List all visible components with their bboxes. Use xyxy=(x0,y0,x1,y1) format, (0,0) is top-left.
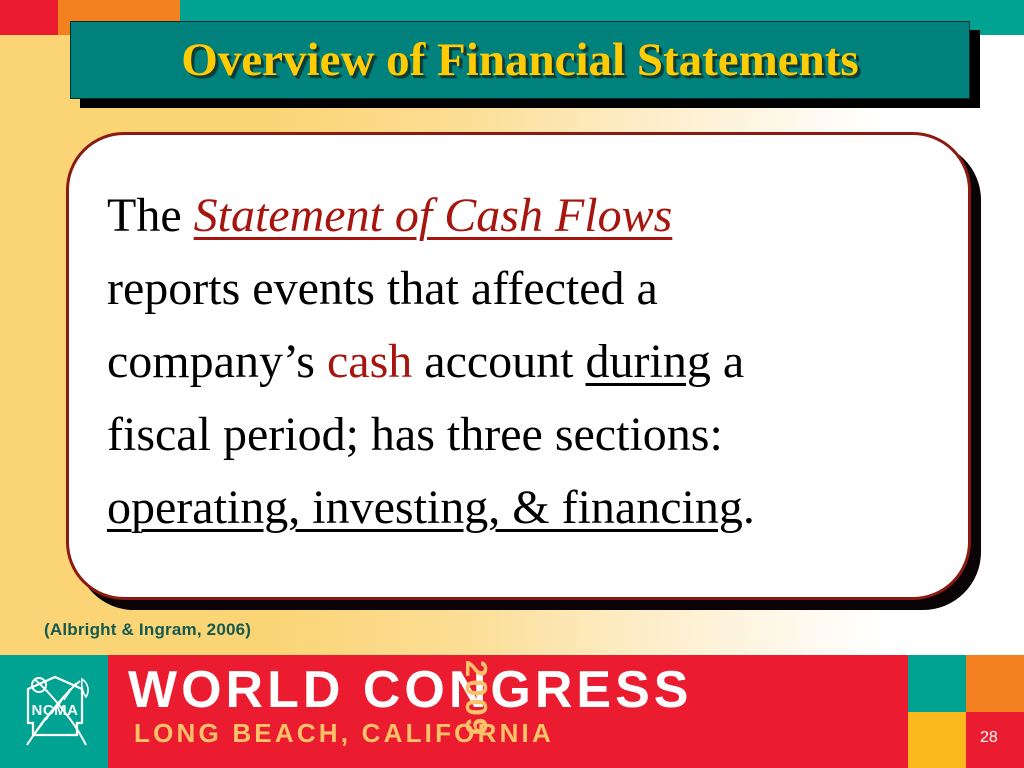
body-line3-suffix: a xyxy=(711,335,744,388)
citation-text: (Albright & Ingram, 2006) xyxy=(44,620,251,640)
body-emphasis-statement-of-cash-flows: Statement of Cash Flows xyxy=(194,189,673,242)
body-emphasis-during: during xyxy=(586,335,711,388)
body-line2: reports events that affected a xyxy=(107,262,658,315)
corner-square-orange xyxy=(966,655,1024,712)
corner-square-yellow xyxy=(908,712,966,768)
page-number: 28 xyxy=(980,729,998,747)
body-paragraph: The Statement of Cash Flows reports even… xyxy=(89,179,928,544)
content-box: The Statement of Cash Flows reports even… xyxy=(66,132,971,600)
body-line4: fiscal period; has three sections: xyxy=(107,408,723,461)
body-line3-mid: account xyxy=(412,335,585,388)
footer-event-year: 2009 xyxy=(394,660,494,700)
ncma-logo-icon: NCMA xyxy=(14,663,96,760)
svg-text:NCMA: NCMA xyxy=(32,702,79,719)
body-line5-period: . xyxy=(743,481,755,534)
page-title: Overview of Financial Statements xyxy=(181,33,858,87)
body-line3-prefix: company’s xyxy=(107,335,327,388)
body-emphasis-sections: operating, investing, & financing xyxy=(107,481,743,534)
body-line1-prefix: The xyxy=(107,189,194,242)
corner-square-teal xyxy=(908,655,966,712)
slide: Overview of Financial Statements The Sta… xyxy=(0,0,1024,768)
decoration-red-block xyxy=(0,0,58,35)
title-box: Overview of Financial Statements xyxy=(70,21,970,99)
body-emphasis-cash: cash xyxy=(327,335,412,388)
